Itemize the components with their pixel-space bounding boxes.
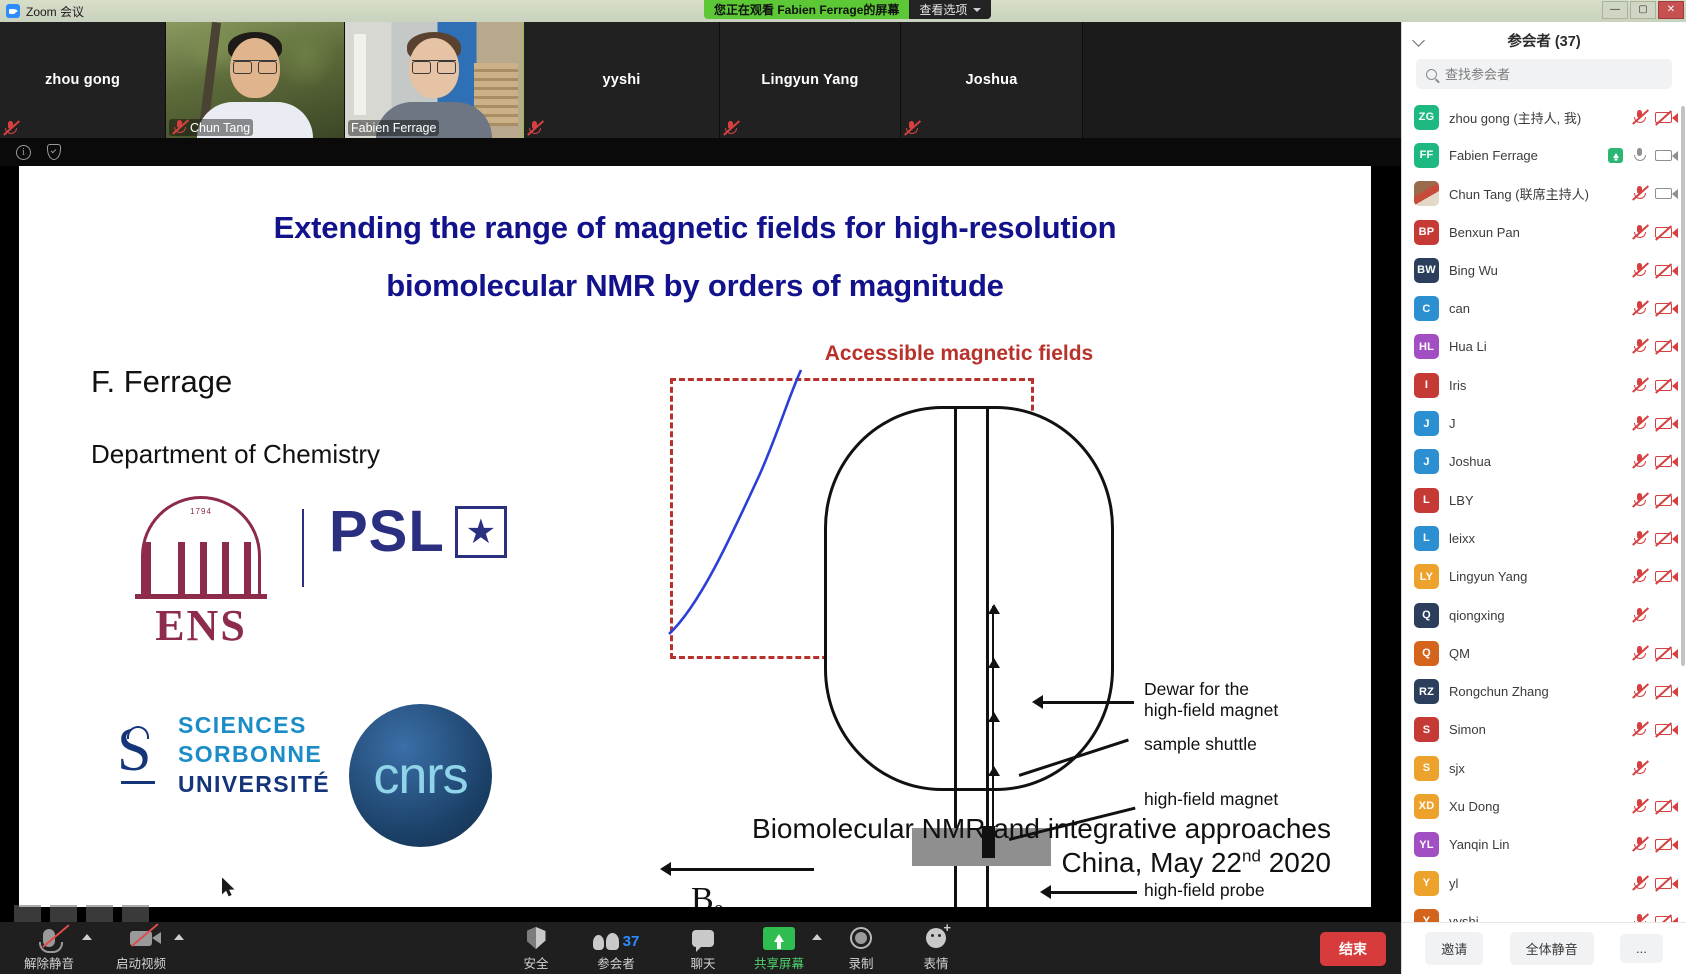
participants-list[interactable]: ZGzhou gong (主持人, 我)FFFabien FerrageChun…	[1402, 98, 1686, 922]
tile-name: Fabien Ferrage	[351, 121, 436, 135]
avatar: J	[1414, 411, 1439, 436]
shield-check-icon[interactable]	[47, 144, 61, 160]
share-options-chevron-icon[interactable]	[812, 934, 822, 940]
footer-ordinal: nd	[1242, 847, 1261, 866]
tile-name: yyshi	[602, 72, 640, 88]
avatar: FF	[1414, 143, 1439, 168]
callout-high-field-magnet: high-field magnet	[1144, 789, 1278, 810]
shuttle-arrow-icon	[988, 658, 1000, 668]
sorbonne-mark-icon: S	[111, 718, 165, 792]
tile-name: Joshua	[966, 72, 1018, 88]
tile-name-badge: Chun Tang	[169, 119, 253, 136]
avatar: YL	[1414, 832, 1439, 857]
participant-row[interactable]: LYLingyun Yang	[1402, 558, 1686, 596]
camera-off-icon[interactable]	[1655, 839, 1672, 850]
callout-leader-line	[1047, 891, 1137, 894]
magnet-outline	[824, 406, 1114, 791]
mic-muted-icon[interactable]	[1632, 339, 1646, 354]
participant-row[interactable]: XDXu Dong	[1402, 787, 1686, 825]
participant-name: LBY	[1449, 493, 1622, 508]
camera-on-icon[interactable]	[1655, 188, 1672, 199]
participant-name: Xu Dong	[1449, 799, 1622, 814]
mic-muted-icon	[172, 120, 186, 135]
people-icon	[593, 933, 619, 950]
share-screen-button[interactable]: 共享屏幕	[748, 922, 810, 972]
zoom-meeting-window: Zoom 会议 — ▢ ✕ 您正在观看 Fabien Ferrage的屏幕 查看…	[0, 0, 1686, 974]
callout-arrow-icon	[1032, 695, 1043, 709]
tile-name: Chun Tang	[190, 121, 250, 135]
mic-muted-icon[interactable]	[1632, 186, 1646, 201]
record-icon	[850, 927, 872, 949]
mic-muted-icon[interactable]	[1632, 684, 1646, 699]
reactions-button[interactable]: 表情	[905, 922, 967, 972]
cnrs-wordmark: cnrs	[373, 746, 467, 806]
mic-muted-icon[interactable]	[1632, 110, 1646, 125]
avatar: RZ	[1414, 679, 1439, 704]
minimize-button[interactable]: —	[1602, 1, 1628, 19]
shuttle-arrow-icon	[988, 766, 1000, 776]
unmute-button[interactable]: 解除静音	[18, 922, 80, 972]
reactions-icon	[926, 928, 946, 948]
logo-divider	[302, 509, 304, 587]
mic-muted-icon[interactable]	[1632, 569, 1646, 584]
participant-row[interactable]: Yyl	[1402, 864, 1686, 902]
shield-icon	[527, 927, 546, 949]
avatar: BW	[1414, 258, 1439, 283]
avatar: C	[1414, 296, 1439, 321]
callout-arrow-icon	[1040, 885, 1051, 899]
ens-logo: 1794 ENS	[131, 496, 271, 648]
participants-panel-title: 参会者 (37)	[1402, 30, 1686, 51]
participant-name: zhou gong (主持人, 我)	[1449, 108, 1622, 127]
camera-off-icon[interactable]	[1655, 380, 1672, 391]
audio-options-chevron-icon[interactable]	[82, 934, 92, 940]
participant-row[interactable]: BPBenxun Pan	[1402, 213, 1686, 251]
mic-muted-icon	[723, 121, 737, 136]
participant-name: sjx	[1449, 761, 1622, 776]
invite-button[interactable]: 邀请	[1425, 932, 1483, 965]
maximize-button[interactable]: ▢	[1630, 1, 1656, 19]
camera-off-icon[interactable]	[1655, 341, 1672, 352]
search-input[interactable]	[1445, 67, 1662, 82]
mic-muted-icon[interactable]	[1632, 914, 1646, 922]
avatar: I	[1414, 373, 1439, 398]
reactions-label: 表情	[923, 953, 948, 972]
participants-label: 参会者	[597, 953, 635, 972]
psl-logo: PSL ★	[329, 503, 507, 561]
end-meeting-button[interactable]: 结束	[1320, 932, 1386, 966]
camera-off-icon[interactable]	[1655, 303, 1672, 314]
participant-name: Hua Li	[1449, 339, 1622, 354]
start-video-button[interactable]: 启动视频	[110, 922, 172, 972]
chat-label: 聊天	[690, 953, 715, 972]
camera-off-icon[interactable]	[1655, 227, 1672, 238]
chat-bubble-icon	[692, 930, 714, 947]
participant-row[interactable]: Lleixx	[1402, 519, 1686, 557]
security-button[interactable]: 安全	[505, 922, 567, 972]
unmute-label: 解除静音	[24, 953, 74, 972]
shared-screen-area: i Extending the range of magnetic fields…	[0, 138, 1401, 922]
participant-name: Chun Tang (联席主持人)	[1449, 184, 1622, 203]
meeting-bottom-toolbar: 解除静音 启动视频 安全 37	[0, 922, 1401, 974]
participant-name: qiongxing	[1449, 608, 1622, 623]
avatar: BP	[1414, 220, 1439, 245]
participant-row[interactable]: QQM	[1402, 634, 1686, 672]
footer-line2-prefix: China, May 22	[1061, 847, 1242, 878]
share-screen-icon	[763, 927, 795, 950]
participant-name: Benxun Pan	[1449, 225, 1622, 240]
participant-row[interactable]: ZGzhou gong (主持人, 我)	[1402, 98, 1686, 136]
shuttle-arrow-icon	[988, 712, 1000, 722]
mute-all-button[interactable]: 全体静音	[1510, 932, 1594, 965]
footer-line2-suffix: 2020	[1261, 847, 1331, 878]
chevron-down-icon	[973, 8, 981, 12]
camera-off-icon[interactable]	[1655, 686, 1672, 697]
mic-muted-icon[interactable]	[1632, 722, 1646, 737]
participants-panel-header: 参会者 (37)	[1402, 22, 1686, 59]
slide-author: F. Ferrage	[91, 364, 232, 400]
participant-row[interactable]: YLYanqin Lin	[1402, 826, 1686, 864]
participant-row[interactable]: BWBing Wu	[1402, 251, 1686, 289]
participant-name: Lingyun Yang	[1449, 569, 1622, 584]
slide-title: Extending the range of magnetic fields f…	[19, 212, 1371, 301]
ens-wordmark: ENS	[131, 604, 271, 648]
avatar: S	[1414, 756, 1439, 781]
callout-high-field-probe: high-field probe	[1144, 880, 1265, 901]
screen-share-banner: 您正在观看 Fabien Ferrage的屏幕 查看选项	[704, 0, 991, 19]
raise-hand-icon	[1608, 148, 1623, 163]
participant-row[interactable]: Ccan	[1402, 289, 1686, 327]
zoom-camera-icon	[6, 4, 20, 18]
participant-row[interactable]: Ssjx	[1402, 749, 1686, 787]
shuttle-arrow-icon	[988, 604, 1000, 614]
camera-off-icon[interactable]	[1655, 265, 1672, 276]
tile-name: Lingyun Yang	[761, 72, 858, 88]
avatar	[1414, 181, 1439, 206]
video-filmstrip: zhou gong Chun Tang	[0, 22, 1401, 138]
slide-department: Department of Chemistry	[91, 439, 380, 470]
camera-off-icon[interactable]	[1655, 916, 1672, 922]
mic-muted-icon[interactable]	[1632, 837, 1646, 852]
start-video-label: 启动视频	[116, 953, 166, 972]
participant-row[interactable]: Yyyshi	[1402, 902, 1686, 922]
camera-on-icon[interactable]	[1655, 150, 1672, 161]
share-screen-label: 共享屏幕	[754, 953, 804, 972]
view-options-label: 查看选项	[919, 1, 967, 18]
mic-muted-icon[interactable]	[1632, 761, 1646, 776]
accessible-fields-label: Accessible magnetic fields	[679, 342, 1239, 366]
participants-scrollbar[interactable]	[1681, 106, 1685, 666]
mic-muted-icon	[904, 121, 918, 136]
video-tile-joshua[interactable]: Joshua	[901, 22, 1083, 138]
camera-off-icon[interactable]	[1655, 648, 1672, 659]
participant-row[interactable]: SSimon	[1402, 711, 1686, 749]
info-icon[interactable]: i	[16, 145, 31, 160]
footer-line1: Biomolecular NMR and integrative approac…	[679, 812, 1331, 846]
mouse-cursor	[222, 878, 235, 897]
avatar: Q	[1414, 641, 1439, 666]
window-title: Zoom 会议	[26, 3, 84, 20]
mic-on-icon[interactable]	[1632, 148, 1646, 163]
participant-name: QM	[1449, 646, 1622, 661]
mic-muted-icon[interactable]	[1632, 531, 1646, 546]
video-tile-yyshi[interactable]: yyshi	[524, 22, 720, 138]
video-tile-lingyun-yang[interactable]: Lingyun Yang	[720, 22, 901, 138]
participants-count: 37	[623, 933, 640, 950]
camera-off-icon[interactable]	[1655, 571, 1672, 582]
mic-muted-icon	[3, 121, 17, 136]
mic-muted-icon[interactable]	[1632, 876, 1646, 891]
slide-footer: Biomolecular NMR and integrative approac…	[679, 812, 1331, 880]
slide-title-line1: Extending the range of magnetic fields f…	[274, 210, 1117, 245]
callout-dewar: Dewar for the high-field magnet	[1144, 679, 1278, 721]
callout-leader-line	[1039, 701, 1134, 704]
sorbonne-line3: UNIVERSITÉ	[178, 770, 330, 799]
avatar: S	[1414, 717, 1439, 742]
participants-search[interactable]	[1416, 59, 1672, 89]
camera-off-icon[interactable]	[1655, 724, 1672, 735]
search-icon	[1426, 69, 1437, 80]
psl-wordmark: PSL	[329, 503, 445, 561]
security-label: 安全	[523, 953, 548, 972]
participant-name: yl	[1449, 876, 1622, 891]
participant-name: Yanqin Lin	[1449, 837, 1622, 852]
participant-name: J	[1449, 416, 1622, 431]
participant-row[interactable]: FFFabien Ferrage	[1402, 136, 1686, 174]
mic-muted-icon[interactable]	[1632, 225, 1646, 240]
slide-title-line2: biomolecular NMR by orders of magnitude	[19, 270, 1371, 301]
participant-name: Rongchun Zhang	[1449, 684, 1622, 699]
tile-name-badge: Fabien Ferrage	[348, 120, 439, 136]
camera-off-icon[interactable]	[1655, 533, 1672, 544]
avatar: LY	[1414, 564, 1439, 589]
mic-muted-icon[interactable]	[1632, 799, 1646, 814]
participant-row[interactable]: HLHua Li	[1402, 328, 1686, 366]
close-button[interactable]: ✕	[1658, 1, 1684, 19]
share-banner-message: 您正在观看 Fabien Ferrage的屏幕	[704, 0, 909, 19]
avatar: Q	[1414, 603, 1439, 628]
presentation-slide: Extending the range of magnetic fields f…	[19, 166, 1371, 907]
record-button[interactable]: 录制	[830, 922, 892, 972]
star-icon: ★	[466, 515, 496, 549]
more-options-button[interactable]: ...	[1620, 934, 1663, 963]
avatar: ZG	[1414, 105, 1439, 130]
callout-sample-shuttle: sample shuttle	[1144, 734, 1257, 755]
video-options-chevron-icon[interactable]	[174, 934, 184, 940]
video-tile-zhou-gong[interactable]: zhou gong	[0, 22, 166, 138]
record-label: 录制	[848, 953, 873, 972]
mic-muted-icon[interactable]	[1632, 416, 1646, 431]
avatar: XD	[1414, 794, 1439, 819]
participant-name: leixx	[1449, 531, 1622, 546]
ens-year: 1794	[190, 507, 212, 516]
b0-axis-label: B0	[691, 881, 724, 907]
participant-row[interactable]: Chun Tang (联席主持人)	[1402, 175, 1686, 213]
mic-muted-icon[interactable]	[1632, 646, 1646, 661]
tile-name: zhou gong	[45, 72, 120, 88]
chat-button[interactable]: 聊天	[672, 922, 734, 972]
avatar: L	[1414, 526, 1439, 551]
participant-name: yyshi	[1449, 914, 1622, 922]
avatar: Y	[1414, 871, 1439, 896]
camera-off-icon[interactable]	[1655, 456, 1672, 467]
avatar: Y	[1414, 909, 1439, 922]
mic-muted-icon[interactable]	[1632, 301, 1646, 316]
participant-row[interactable]: JJoshua	[1402, 443, 1686, 481]
camera-off-icon[interactable]	[1655, 418, 1672, 429]
participant-row[interactable]: IIris	[1402, 366, 1686, 404]
avatar: J	[1414, 449, 1439, 474]
mic-muted-icon[interactable]	[1632, 454, 1646, 469]
camera-off-icon[interactable]	[1655, 112, 1672, 123]
sorbonne-line1: SCIENCES	[178, 711, 330, 740]
camera-off-icon[interactable]	[1655, 495, 1672, 506]
share-area-toolbar: i	[0, 138, 1401, 166]
participant-name: Fabien Ferrage	[1449, 148, 1598, 163]
participant-name: Bing Wu	[1449, 263, 1622, 278]
participant-row[interactable]: LLBY	[1402, 481, 1686, 519]
avatar: HL	[1414, 334, 1439, 359]
participants-panel: 参会者 (37) ZGzhou gong (主持人, 我)FFFabien Fe…	[1401, 22, 1686, 974]
participant-name: can	[1449, 301, 1622, 316]
camera-off-icon[interactable]	[1655, 801, 1672, 812]
sorbonne-logo: S SCIENCES SORBONNE UNIVERSITÉ	[111, 711, 330, 799]
cnrs-logo: cnrs	[349, 704, 492, 847]
mic-muted-icon[interactable]	[1632, 378, 1646, 393]
sorbonne-line2: SORBONNE	[178, 740, 330, 769]
video-tile-chun-tang[interactable]: Chun Tang	[166, 22, 345, 138]
mic-muted-icon[interactable]	[1632, 608, 1646, 623]
view-options-dropdown[interactable]: 查看选项	[909, 0, 991, 19]
participants-panel-footer: 邀请 全体静音 ...	[1402, 922, 1686, 974]
participant-row[interactable]: RZRongchun Zhang	[1402, 672, 1686, 710]
mic-muted-icon	[527, 121, 541, 136]
avatar: L	[1414, 488, 1439, 513]
participants-button[interactable]: 37 参会者	[585, 922, 647, 972]
mic-muted-icon[interactable]	[1632, 263, 1646, 278]
participant-row[interactable]: Qqiongxing	[1402, 596, 1686, 634]
mic-muted-icon[interactable]	[1632, 493, 1646, 508]
video-tile-fabien-ferrage[interactable]: Fabien Ferrage	[345, 22, 524, 138]
participant-row[interactable]: JJ	[1402, 404, 1686, 442]
participant-name: Joshua	[1449, 454, 1622, 469]
camera-off-icon[interactable]	[1655, 878, 1672, 889]
participant-name: Simon	[1449, 722, 1622, 737]
participant-name: Iris	[1449, 378, 1622, 393]
